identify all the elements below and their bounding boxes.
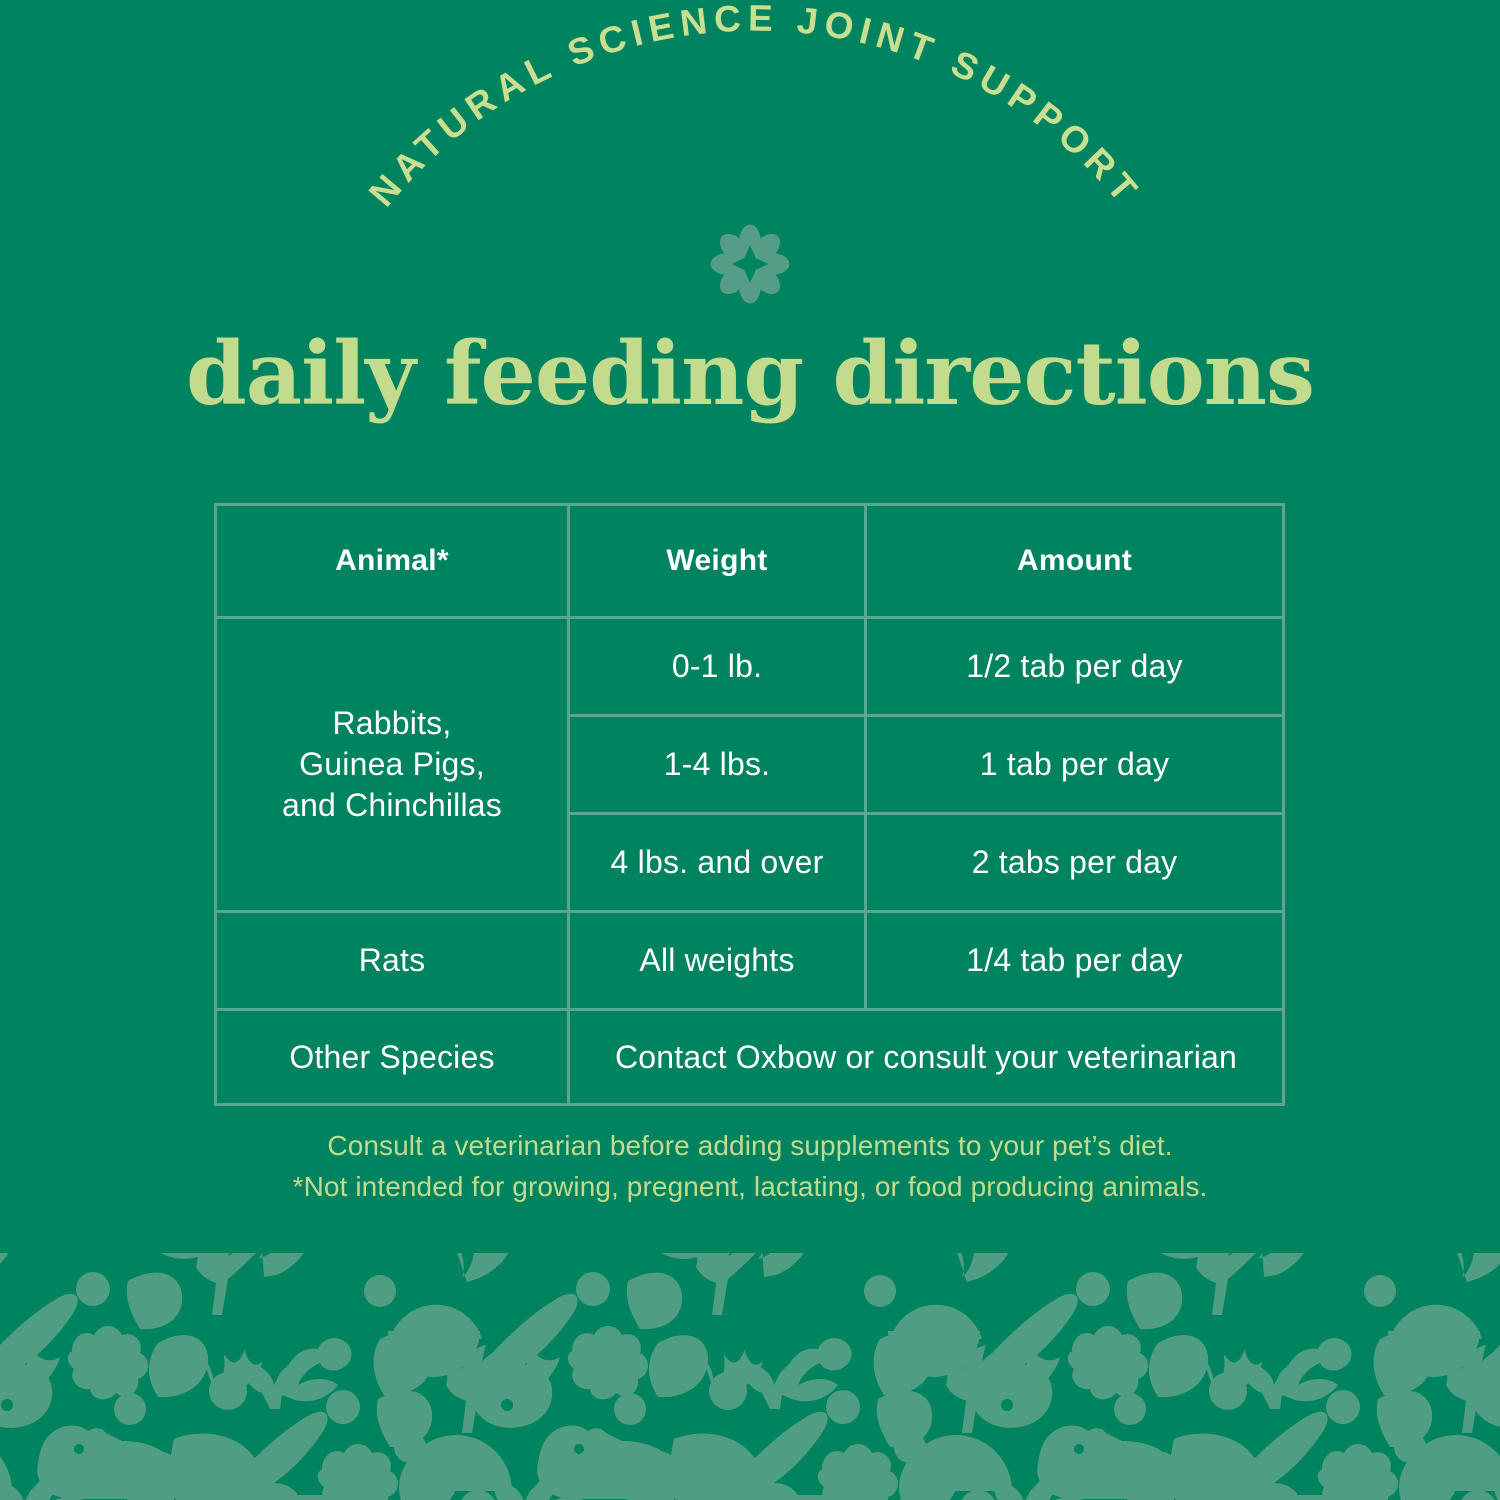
arc-headline-text: NATURAL SCIENCE JOINT SUPPORT bbox=[361, 0, 1149, 214]
page-title: daily feeding directions bbox=[0, 330, 1500, 417]
table-row: Rats All weights 1/4 tab per day bbox=[217, 913, 1282, 1012]
column-header-amount: Amount bbox=[864, 506, 1282, 616]
cell-amount: 2 tabs per day bbox=[864, 815, 1282, 910]
cell-weight: 0-1 lb. bbox=[570, 619, 864, 714]
footnotes: Consult a veterinarian before adding sup… bbox=[0, 1126, 1500, 1207]
cell-weight: All weights bbox=[567, 913, 864, 1009]
cell-amount: 1/4 tab per day bbox=[864, 913, 1282, 1009]
table-row: Other Species Contact Oxbow or consult y… bbox=[217, 1011, 1282, 1103]
table-row: 4 lbs. and over 2 tabs per day bbox=[570, 812, 1282, 910]
cell-amount: 1 tab per day bbox=[864, 717, 1282, 812]
cell-animal-other-species: Other Species bbox=[217, 1011, 567, 1103]
table-row: 1-4 lbs. 1 tab per day bbox=[570, 714, 1282, 812]
column-header-animal: Animal* bbox=[217, 506, 567, 616]
cell-animal-rats: Rats bbox=[217, 913, 567, 1009]
poster-canvas: NATURAL SCIENCE JOINT SUPPORT bbox=[0, 0, 1500, 1500]
animal-line-1: Rabbits, bbox=[282, 703, 502, 744]
flower-rosette-icon bbox=[708, 222, 792, 306]
cell-weight: 1-4 lbs. bbox=[570, 717, 864, 812]
animal-line-3: and Chinchillas bbox=[282, 785, 502, 826]
cell-other-species-note: Contact Oxbow or consult your veterinari… bbox=[567, 1011, 1282, 1103]
cell-amount: 1/2 tab per day bbox=[864, 619, 1282, 714]
feeding-directions-table: Animal* Weight Amount Rabbits, Guinea Pi… bbox=[214, 503, 1285, 1106]
footnote-line-2: *Not intended for growing, pregnent, lac… bbox=[0, 1167, 1500, 1208]
small-mammal-subrows: 0-1 lb. 1/2 tab per day 1-4 lbs. 1 tab p… bbox=[567, 619, 1282, 910]
table-row: 0-1 lb. 1/2 tab per day bbox=[570, 619, 1282, 714]
table-row-group-small-mammals: Rabbits, Guinea Pigs, and Chinchillas 0-… bbox=[217, 619, 1282, 913]
botanical-animal-pattern bbox=[0, 1253, 1500, 1500]
footnote-line-1: Consult a veterinarian before adding sup… bbox=[0, 1126, 1500, 1167]
column-header-weight: Weight bbox=[567, 506, 864, 616]
cell-animal-small-mammals: Rabbits, Guinea Pigs, and Chinchillas bbox=[217, 619, 567, 910]
cell-weight: 4 lbs. and over bbox=[570, 815, 864, 910]
table-header-row: Animal* Weight Amount bbox=[217, 506, 1282, 619]
animal-line-2: Guinea Pigs, bbox=[282, 744, 502, 785]
